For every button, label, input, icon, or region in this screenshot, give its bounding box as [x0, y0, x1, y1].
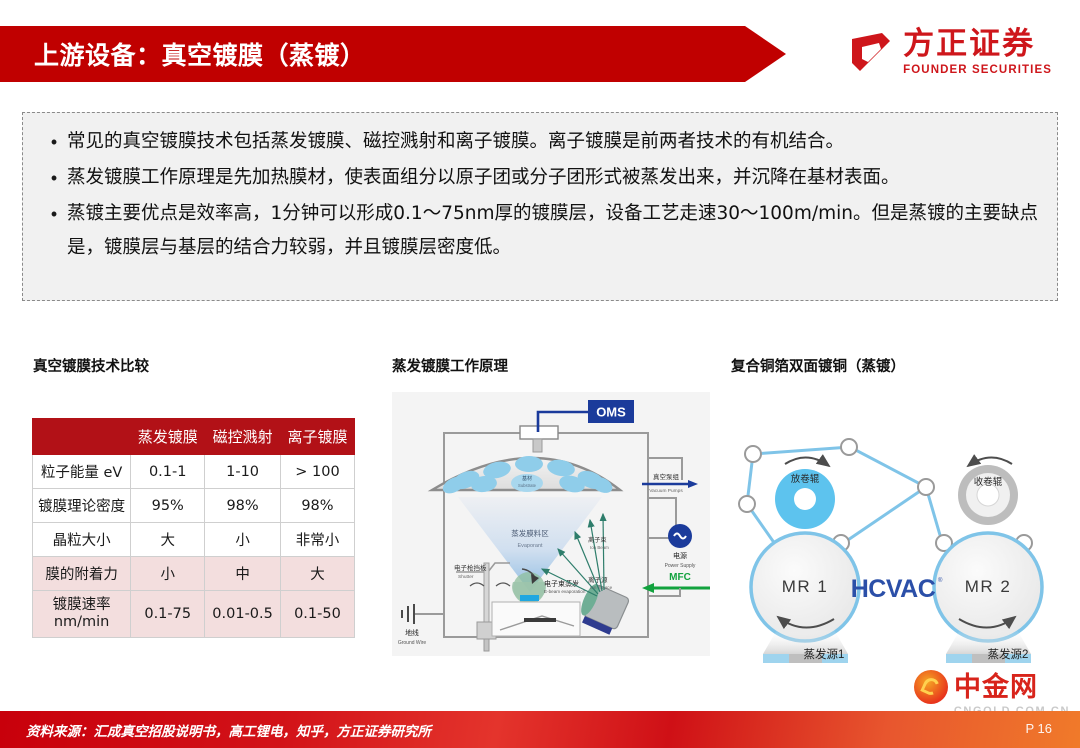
- table-cell: 大: [131, 523, 205, 557]
- table-cell: 中: [205, 557, 281, 591]
- table-header-cell: [33, 419, 131, 455]
- bullet-item: • 蒸发镀膜工作原理是先加热膜材，使表面组分以原子团或分子团形式被蒸发出来，并沉…: [41, 161, 1039, 195]
- table-header-row: 蒸发镀膜 磁控溅射 离子镀膜: [33, 419, 355, 455]
- table-cell: 小: [205, 523, 281, 557]
- table-row: 镀膜速率 nm/min 0.1-75 0.01-0.5 0.1-50: [33, 591, 355, 638]
- table-cell: 非常小: [280, 523, 354, 557]
- table-cell: 大: [280, 557, 354, 591]
- evaporation-principle-diagram: OMS 基材 Substrate 蒸发膜料区 Evaporant 电: [392, 392, 710, 656]
- page-title: 上游设备：真空镀膜（蒸镀）: [34, 36, 366, 72]
- substrate-label-en: Substrate: [518, 483, 537, 488]
- summary-box: • 常见的真空镀膜技术包括蒸发镀膜、磁控溅射和离子镀膜。离子镀膜是前两者技术的有…: [22, 112, 1058, 301]
- bullet-item: • 常见的真空镀膜技术包括蒸发镀膜、磁控溅射和离子镀膜。离子镀膜是前两者技术的有…: [41, 125, 1039, 159]
- power-supply-label-en: Power Supply: [665, 563, 696, 569]
- evaporation-source-1-label: 蒸发源1: [764, 646, 884, 662]
- bullet-marker-icon: •: [41, 197, 67, 265]
- table-row-label: 镀膜速率 nm/min: [33, 591, 131, 638]
- bullet-text: 蒸发镀膜工作原理是先加热膜材，使表面组分以原子团或分子团形式被蒸发出来，并沉降在…: [67, 161, 1039, 195]
- double-side-copper-plating-diagram: 放卷辊 收卷辊 MR 1 MR 2: [730, 392, 1060, 664]
- table-row: 晶粒大小 大 小 非常小: [33, 523, 355, 557]
- table-row-label: 粒子能量 eV: [33, 455, 131, 489]
- mfc-label: MFC: [669, 572, 691, 583]
- ion-source-label-zh: 离子源: [588, 575, 608, 584]
- bullet-text: 蒸镀主要优点是效率高，1分钟可以形成0.1～75nm厚的镀膜层，设备工艺走速30…: [67, 197, 1039, 265]
- table-row: 粒子能量 eV 0.1-1 1-10 > 100: [33, 455, 355, 489]
- ion-beam-label-zh: 离子束: [588, 536, 607, 544]
- page-number: P 16: [1025, 721, 1052, 736]
- hcvac-registered-icon: ®: [938, 577, 943, 584]
- ebeam-label-zh: 电子束蒸发: [544, 579, 579, 588]
- table-header-cell: 离子镀膜: [280, 419, 354, 455]
- table-row-label: 镀膜理论密度: [33, 489, 131, 523]
- evaporation-source-2-label: 蒸发源2: [948, 646, 1060, 662]
- table-header-cell: 磁控溅射: [205, 419, 281, 455]
- bullet-item: • 蒸镀主要优点是效率高，1分钟可以形成0.1～75nm厚的镀膜层，设备工艺走速…: [41, 197, 1039, 265]
- watermark-logo-row: 中金网: [906, 670, 1074, 704]
- logo-text-en: FOUNDER SECURITIES: [903, 64, 1052, 76]
- table-cell: 95%: [131, 489, 205, 523]
- ground-wire-label-en: Ground Wire: [398, 640, 427, 646]
- section-title-right-diagram: 复合铜箔双面镀铜（蒸镀）: [731, 355, 905, 376]
- power-supply-label-zh: 电源: [673, 551, 687, 560]
- vacuum-pumps-label-en: Vacuum Pumps: [649, 488, 683, 494]
- watermark-brand-zh: 中金网: [954, 674, 1038, 701]
- vacuum-pumps-label-zh: 真空泵组: [653, 472, 680, 481]
- bullet-marker-icon: •: [41, 125, 67, 159]
- rewind-roll-label: 收卷辊: [974, 476, 1003, 488]
- table-cell: 小: [131, 557, 205, 591]
- ground-wire-label-zh: 地线: [405, 628, 419, 637]
- table-row-label: 膜的附着力: [33, 557, 131, 591]
- founder-securities-logo: 方正证券 FOUNDER SECURITIES: [849, 28, 1052, 76]
- logo-text-zh: 方正证券: [903, 28, 1052, 59]
- table-cell: 0.1-50: [280, 591, 354, 638]
- table-row-label: 晶粒大小: [33, 523, 131, 557]
- footer-bar: 资料来源：汇成真空招股说明书，高工锂电，知乎，方正证券研究所 P 16: [0, 711, 1080, 748]
- source-note: 资料来源：汇成真空招股说明书，高工锂电，知乎，方正证券研究所: [26, 720, 431, 740]
- cngold-logo-icon: [914, 670, 948, 704]
- table-cell: 0.1-75: [131, 591, 205, 638]
- hcvac-brand-label: HCVAC: [851, 575, 936, 603]
- table-cell: > 100: [280, 455, 354, 489]
- logo-mark-icon: [849, 30, 893, 74]
- shutter-label-en: Shutter: [458, 574, 474, 580]
- comparison-table-wrapper: 蒸发镀膜 磁控溅射 离子镀膜 粒子能量 eV 0.1-1 1-10 > 100 …: [32, 418, 355, 638]
- table-row: 镀膜理论密度 95% 98% 98%: [33, 489, 355, 523]
- slide-page: 上游设备：真空镀膜（蒸镀） 方正证券 FOUNDER SECURITIES • …: [0, 0, 1080, 748]
- table-header-cell: 蒸发镀膜: [131, 419, 205, 455]
- bullet-marker-icon: •: [41, 161, 67, 195]
- bullet-text: 常见的真空镀膜技术包括蒸发镀膜、磁控溅射和离子镀膜。离子镀膜是前两者技术的有机结…: [67, 125, 1039, 159]
- table-row: 膜的附着力 小 中 大: [33, 557, 355, 591]
- comparison-table: 蒸发镀膜 磁控溅射 离子镀膜 粒子能量 eV 0.1-1 1-10 > 100 …: [32, 418, 355, 638]
- table-row-label-line1: 镀膜速率: [53, 597, 111, 613]
- shutter-label-zh: 电子枪挡板: [454, 563, 487, 572]
- table-cell: 0.01-0.5: [205, 591, 281, 638]
- table-cell: 1-10: [205, 455, 281, 489]
- drum-2-label: MR 2: [965, 577, 1012, 596]
- table-cell: 98%: [280, 489, 354, 523]
- substrate-label-zh: 基材: [522, 475, 532, 482]
- oms-label: OMS: [596, 405, 626, 420]
- table-row-label-line2: nm/min: [54, 614, 110, 630]
- section-title-mid-diagram: 蒸发镀膜工作原理: [392, 355, 508, 376]
- ebeam-label-en: E-beam evaporation: [544, 589, 586, 594]
- table-cell: 98%: [205, 489, 281, 523]
- evaporant-label-zh: 蒸发膜料区: [511, 528, 549, 538]
- unwind-roll-label: 放卷辊: [791, 473, 820, 485]
- evaporant-label-en: Evaporant: [517, 543, 543, 549]
- table-cell: 0.1-1: [131, 455, 205, 489]
- ion-beam-label-en: Ion Beam: [590, 545, 609, 550]
- section-title-table: 真空镀膜技术比较: [33, 355, 149, 376]
- drum-1-label: MR 1: [782, 577, 829, 596]
- header-banner: 上游设备：真空镀膜（蒸镀）: [0, 26, 786, 82]
